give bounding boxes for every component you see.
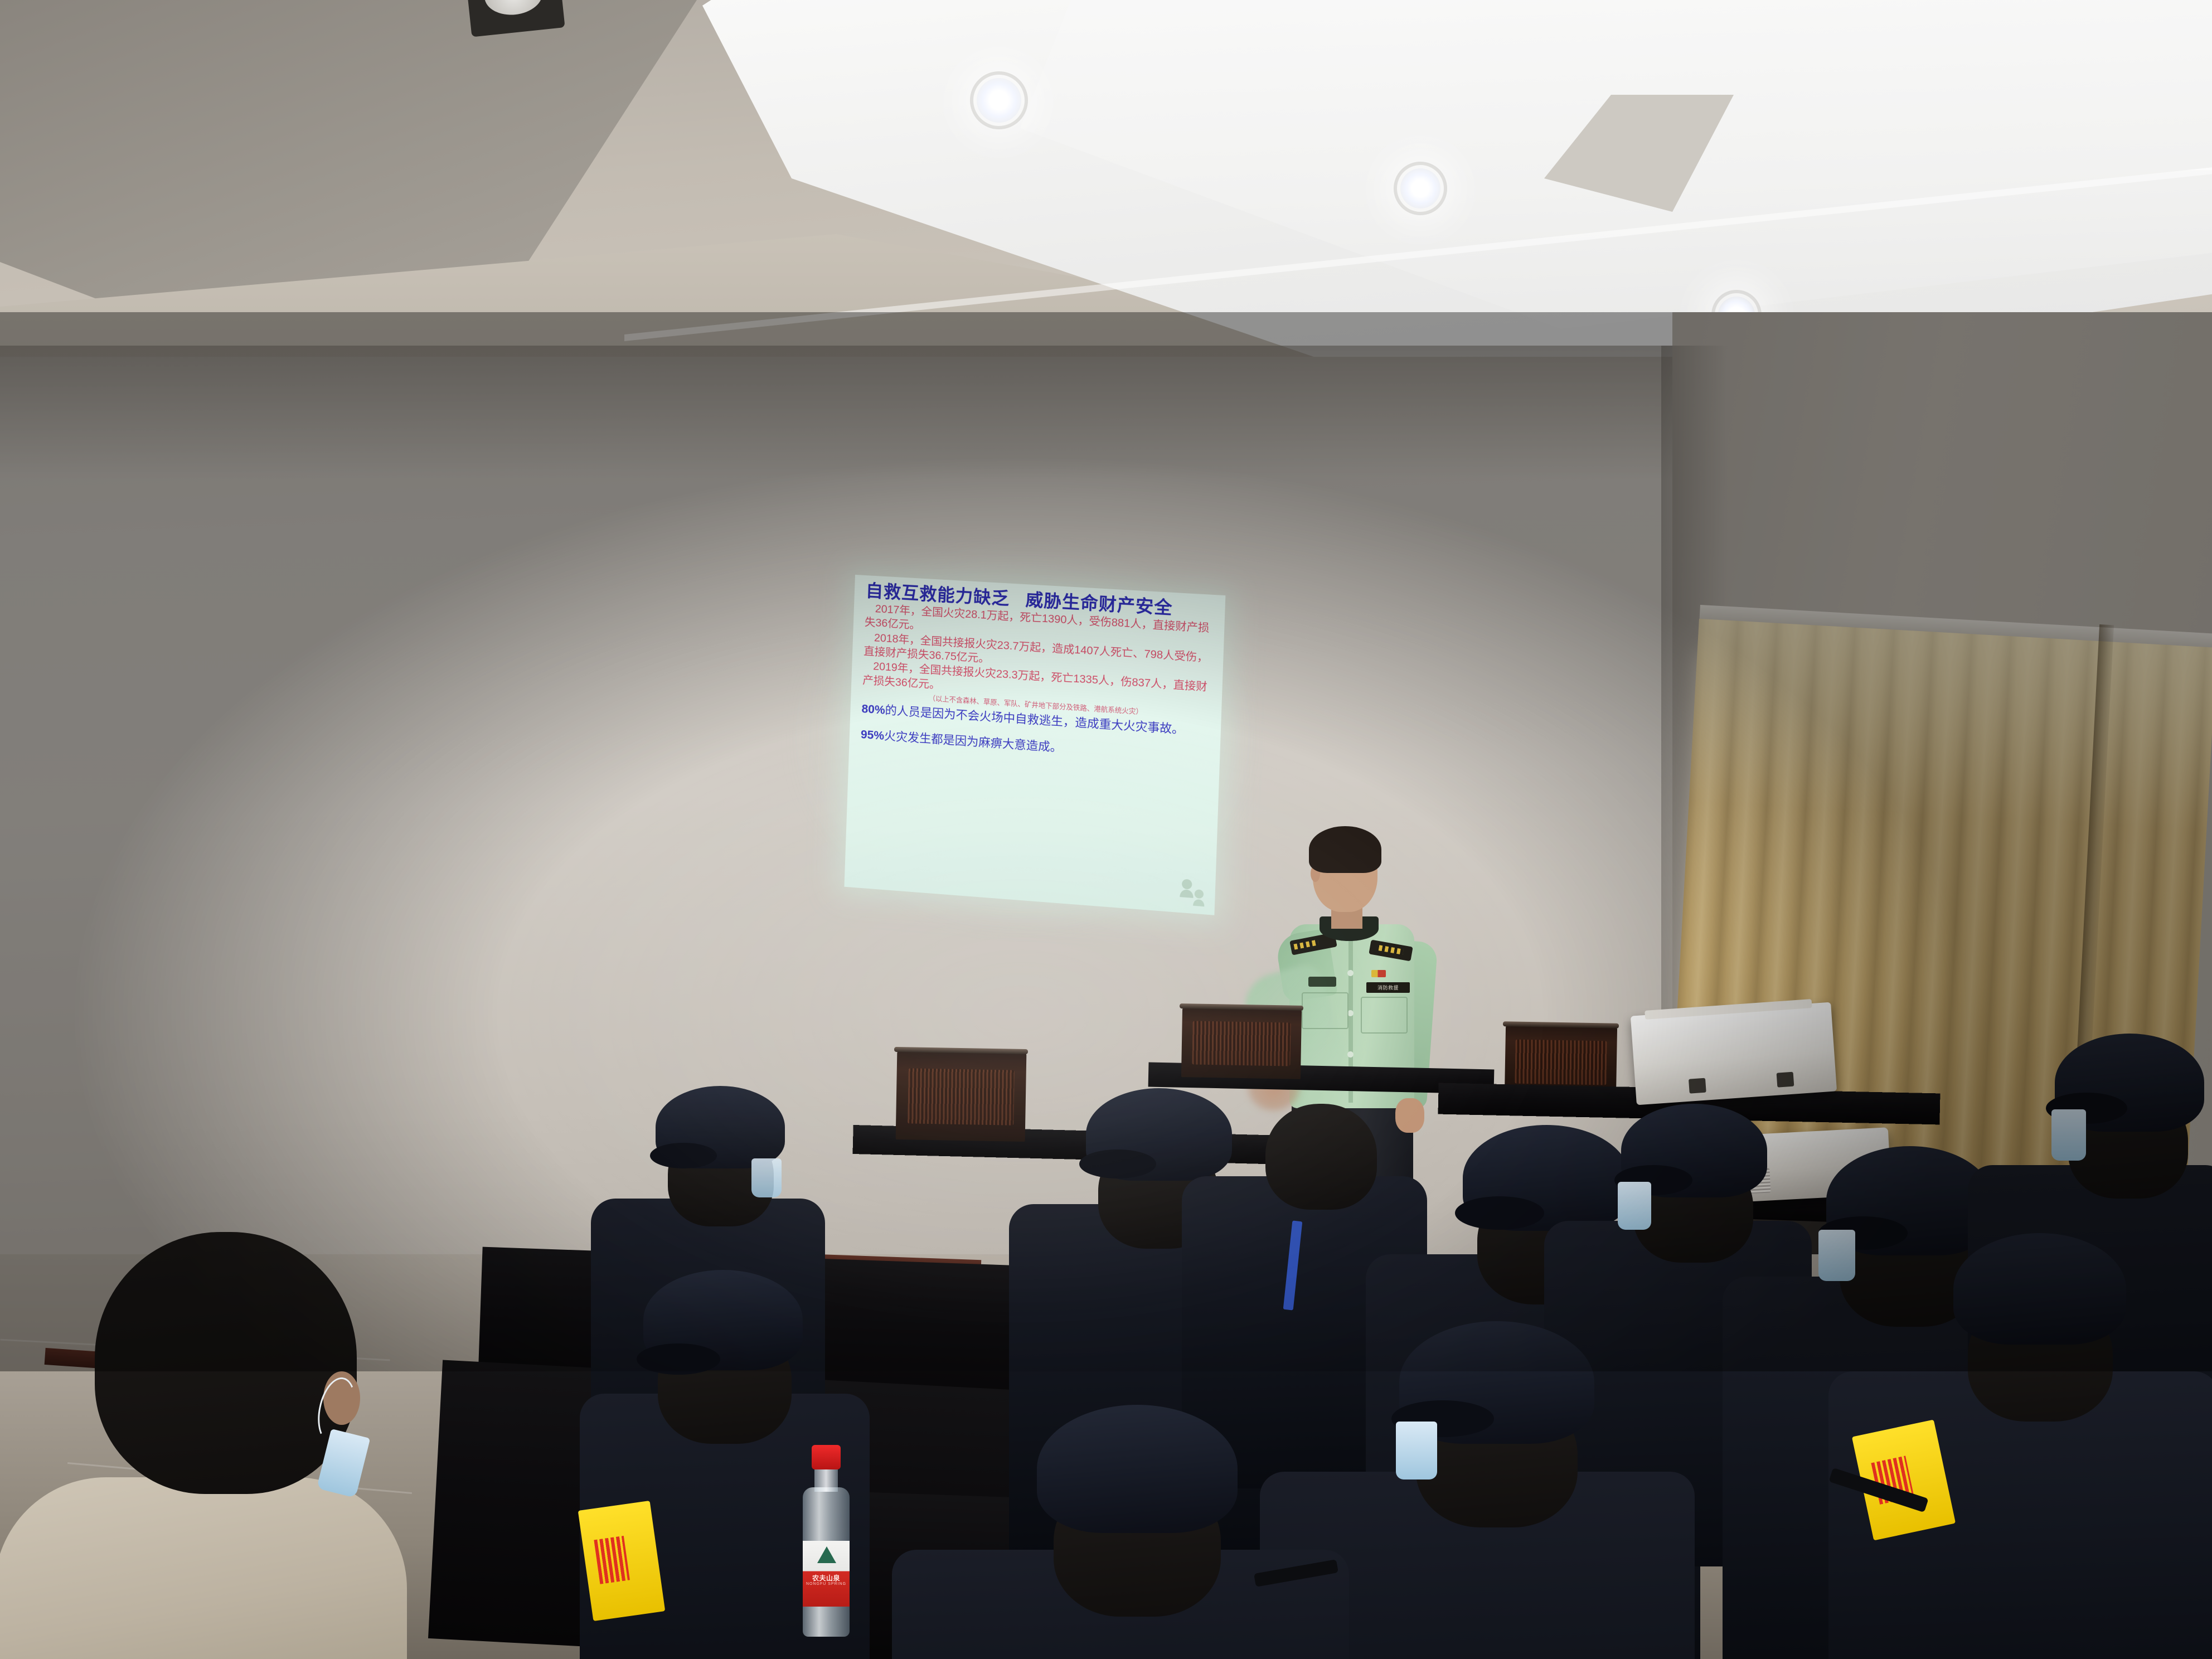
downlight-2-icon — [1400, 168, 1440, 208]
lecture-room-photo: 自救互救能力缺乏威胁生命财产安全 2017年，全国火灾28.1万起，死亡1390… — [0, 0, 2212, 1659]
bottle-label: 农夫山泉 NONGFU SPRING — [803, 1541, 850, 1607]
bottle-neck — [814, 1467, 838, 1492]
photo-vignette — [0, 312, 2212, 1371]
attendee-face-mask — [1396, 1422, 1437, 1479]
bottle-mountain-icon — [817, 1546, 836, 1563]
bottle-cap — [812, 1445, 841, 1469]
downlight-1-icon — [977, 78, 1021, 123]
attendee-armband — [578, 1501, 666, 1621]
bottle-brand-en: NONGFU SPRING — [803, 1582, 850, 1586]
water-bottle: 农夫山泉 NONGFU SPRING — [796, 1445, 855, 1637]
attendee-beige-top — [0, 1477, 407, 1659]
attendee-cap — [1037, 1405, 1238, 1533]
bottle-brand-cn: 农夫山泉 — [803, 1573, 850, 1583]
